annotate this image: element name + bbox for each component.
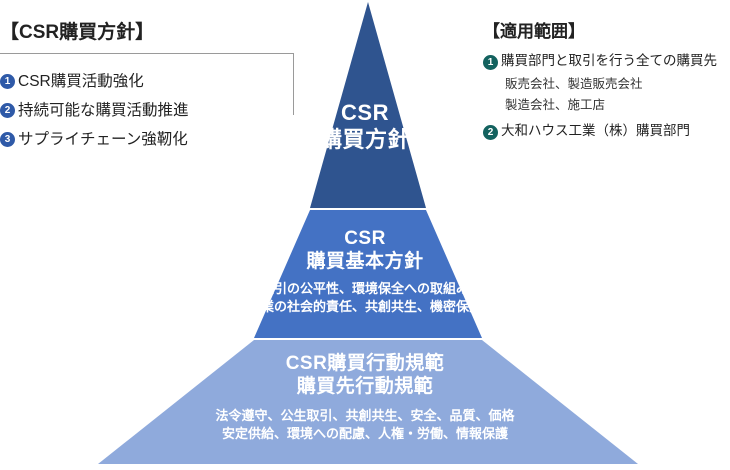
number-bullet-2-icon: 2 bbox=[483, 125, 498, 140]
scope-panel: 【適用範囲】 1 購買部門と取引を行う全ての購買先 販売会社、製造販売会社 製造… bbox=[483, 22, 730, 144]
csr-policy-panel: 【CSR購買方針】 1 CSR購買活動強化 2 持続可能な購買活動推進 3 サプ… bbox=[0, 22, 300, 115]
scope-item-1-label: 購買部門と取引を行う全ての購買先 bbox=[501, 51, 730, 72]
diagram-canvas: CSR 購買方針 CSR 購買基本方針 取引の公平性、環境保全への取組み 企業の… bbox=[0, 0, 730, 470]
pyramid-tier1-shape bbox=[310, 2, 426, 208]
number-bullet-3-icon: 3 bbox=[0, 132, 15, 147]
csr-policy-item-3-label: サプライチェーン強靭化 bbox=[18, 128, 188, 151]
number-bullet-1-icon: 1 bbox=[483, 55, 498, 70]
scope-item-1-note-2: 製造会社、施工店 bbox=[505, 95, 730, 116]
csr-policy-item-1: 1 CSR購買活動強化 bbox=[0, 70, 293, 93]
csr-policy-item-2-label: 持続可能な購買活動推進 bbox=[18, 99, 189, 122]
csr-policy-item-1-label: CSR購買活動強化 bbox=[18, 70, 144, 93]
pyramid-tier3-shape bbox=[98, 340, 638, 464]
csr-policy-item-3: 3 サプライチェーン強靭化 bbox=[0, 128, 293, 151]
csr-policy-heading: 【CSR購買方針】 bbox=[0, 22, 300, 45]
csr-policy-item-2: 2 持続可能な購買活動推進 bbox=[0, 99, 293, 122]
scope-heading: 【適用範囲】 bbox=[483, 22, 730, 42]
number-bullet-1-icon: 1 bbox=[0, 74, 15, 89]
scope-item-1-note-1: 販売会社、製造販売会社 bbox=[505, 74, 730, 95]
scope-item-1: 1 購買部門と取引を行う全ての購買先 bbox=[483, 51, 730, 72]
pyramid-tier2-shape bbox=[254, 210, 482, 338]
scope-item-2: 2 大和ハウス工業（株）購買部門 bbox=[483, 121, 730, 142]
scope-item-2-label: 大和ハウス工業（株）購買部門 bbox=[501, 121, 730, 142]
number-bullet-2-icon: 2 bbox=[0, 103, 15, 118]
csr-policy-box: 1 CSR購買活動強化 2 持続可能な購買活動推進 3 サプライチェーン強靭化 bbox=[0, 53, 294, 115]
